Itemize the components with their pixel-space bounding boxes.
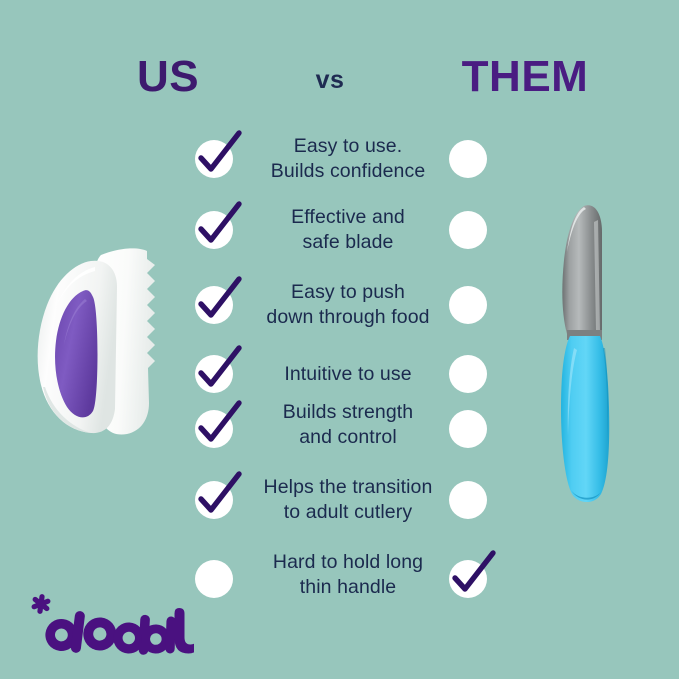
us-empty-circle-icon [195, 560, 233, 598]
us-check-icon [195, 286, 233, 324]
them-check-icon [449, 560, 487, 598]
product-image-competitor-knife [540, 198, 650, 513]
them-empty-circle-icon [449, 355, 487, 393]
product-image-doddl-knife [35, 235, 200, 450]
us-check-icon [195, 355, 233, 393]
them-empty-circle-icon [449, 286, 487, 324]
feature-label: Helps the transitionto adult cutlery [243, 475, 453, 525]
feature-label: Builds strengthand control [243, 400, 453, 450]
infographic-canvas: US vs THEM Easy to use.Builds confidence… [0, 0, 679, 679]
feature-label: Hard to hold longthin handle [243, 550, 453, 600]
them-empty-circle-icon [449, 211, 487, 249]
us-check-icon [195, 140, 233, 178]
feature-label: Effective andsafe blade [243, 205, 453, 255]
us-check-icon [195, 211, 233, 249]
feature-label: Intuitive to use [243, 362, 453, 387]
them-empty-circle-icon [449, 410, 487, 448]
brand-logo-doddl [14, 592, 194, 660]
us-check-icon [195, 410, 233, 448]
them-empty-circle-icon [449, 140, 487, 178]
feature-label: Easy to pushdown through food [243, 280, 453, 330]
us-check-icon [195, 481, 233, 519]
them-empty-circle-icon [449, 481, 487, 519]
feature-label: Easy to use.Builds confidence [243, 134, 453, 184]
